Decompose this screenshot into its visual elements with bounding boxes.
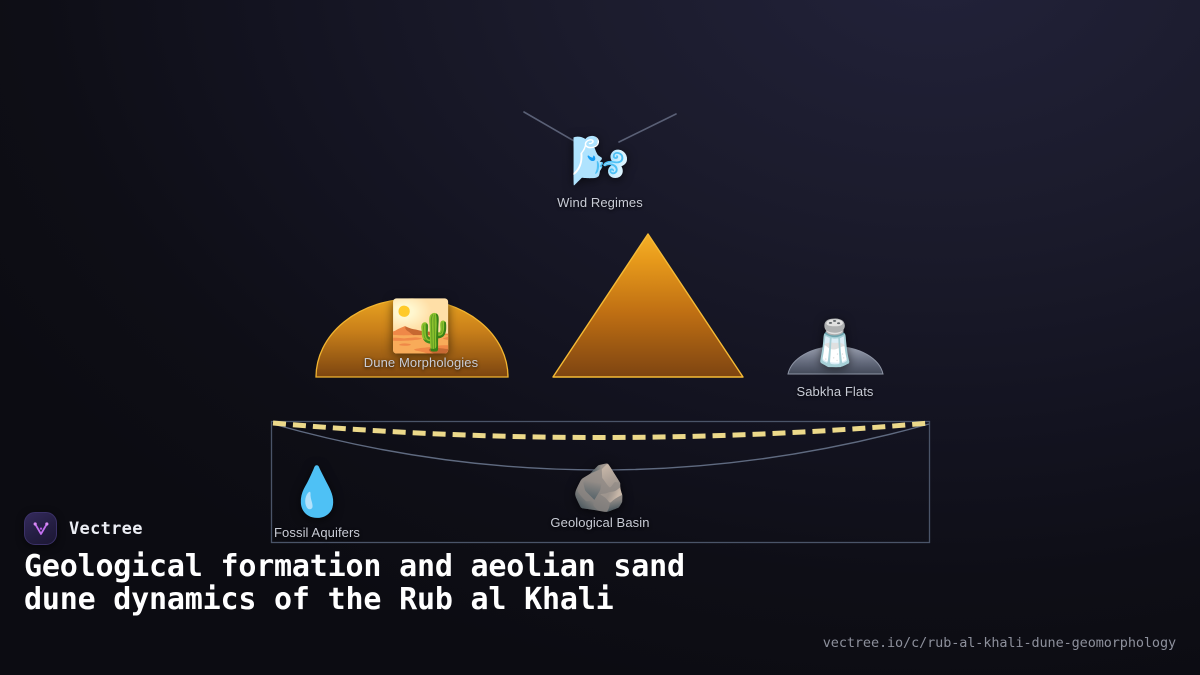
salt-shaker-emoji[interactable]: 🧂 [808, 322, 863, 366]
central-dune-triangle-shape[interactable] [553, 234, 743, 377]
rock-emoji[interactable]: 🪨 [571, 464, 628, 510]
slide-canvas: 🌬️ 🏜️ 🧂 💧 🪨 Wind Regimes Dune Morphologi… [0, 0, 1200, 675]
node-label-wind-regimes: Wind Regimes [557, 195, 643, 210]
page-title: Geological formation and aeolian sand du… [24, 550, 744, 616]
brand-row: Vectree [24, 512, 143, 545]
wind-face-emoji[interactable]: 🌬️ [570, 138, 630, 186]
water-droplet-emoji[interactable]: 💧 [287, 469, 347, 517]
source-url: vectree.io/c/rub-al-khali-dune-geomorpho… [823, 635, 1176, 651]
vectree-v-logo-icon [24, 512, 57, 545]
node-label-sabkha-flats: Sabkha Flats [796, 384, 873, 399]
dashed-sand-surface-curve [273, 423, 929, 438]
node-label-fossil-aquifers: Fossil Aquifers [274, 525, 360, 540]
node-label-geological-basin: Geological Basin [550, 515, 649, 530]
desert-emoji[interactable]: 🏜️ [390, 301, 452, 351]
brand-name: Vectree [69, 519, 143, 539]
node-label-dune-morphologies: Dune Morphologies [364, 355, 478, 370]
